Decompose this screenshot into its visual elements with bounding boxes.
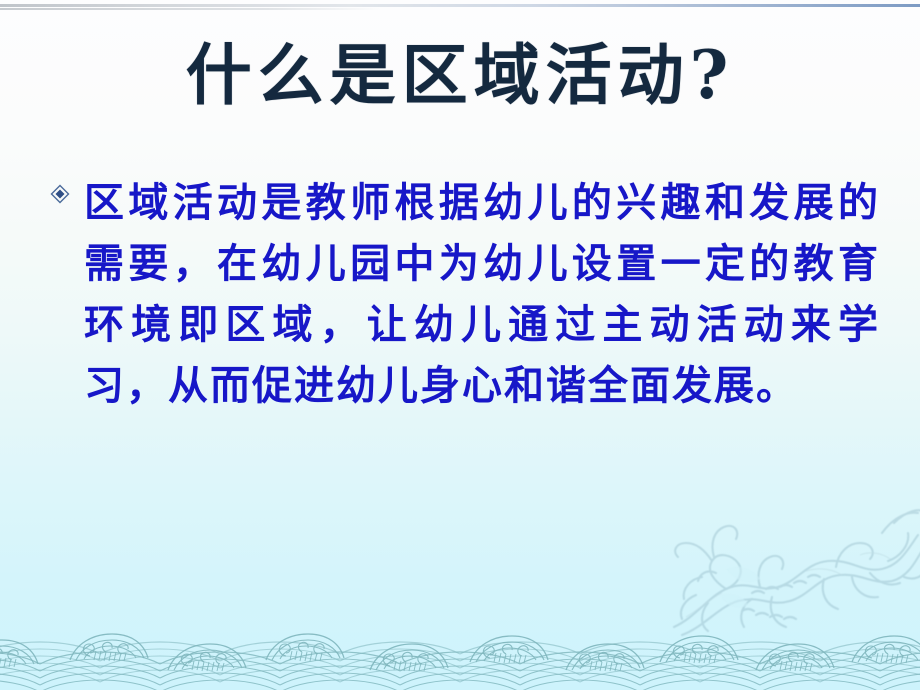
top-decorative-band-secondary <box>0 8 380 10</box>
slide-title: 什么是区域活动? <box>0 36 920 114</box>
slide-body-text: 区域活动是教师根据幼儿的兴趣和发展的需要，在幼儿园中为幼儿设置一定的教育环境即区… <box>84 172 880 416</box>
slide-canvas: 什么是区域活动? 区域活动是教师根据幼儿的兴趣和发展的需要，在幼儿园中为幼儿设置… <box>0 0 920 690</box>
bullet-paragraph: 区域活动是教师根据幼儿的兴趣和发展的需要，在幼儿园中为幼儿设置一定的教育环境即区… <box>50 172 880 416</box>
diamond-bullet-icon <box>50 172 84 204</box>
chinese-dragon-watermark-icon <box>656 477 920 652</box>
top-decorative-band <box>0 4 920 7</box>
chinese-wave-pattern-icon <box>0 620 920 690</box>
